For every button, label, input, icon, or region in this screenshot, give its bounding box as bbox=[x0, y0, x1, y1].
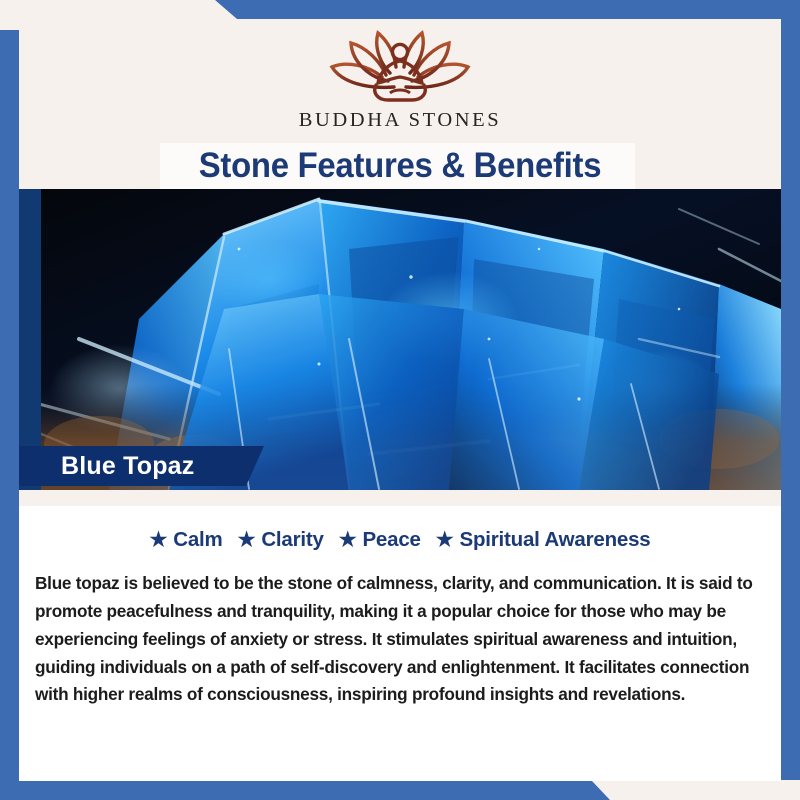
crystal-illustration bbox=[19, 189, 781, 490]
star-icon: ★ bbox=[436, 530, 454, 550]
feature-item-peace: ★ Peace bbox=[339, 528, 421, 552]
stone-name-label: Blue Topaz bbox=[61, 452, 194, 481]
feature-label: Peace bbox=[362, 528, 420, 552]
stone-description: Blue topaz is believed to be the stone o… bbox=[35, 570, 765, 709]
feature-keyword-list: ★ Calm ★ Clarity ★ Peace ★ Spiritual Awa… bbox=[19, 528, 781, 552]
star-icon: ★ bbox=[339, 530, 357, 550]
lotus-meditation-figure-icon bbox=[310, 27, 490, 105]
feature-item-calm: ★ Calm bbox=[150, 528, 223, 552]
star-icon: ★ bbox=[150, 530, 168, 550]
frame-left-bar bbox=[0, 30, 19, 800]
stone-name-banner: Blue Topaz bbox=[19, 446, 264, 486]
page-title: Stone Features & Benefits bbox=[60, 142, 741, 190]
feature-item-spiritual-awareness: ★ Spiritual Awareness bbox=[436, 528, 651, 552]
feature-label: Calm bbox=[173, 528, 222, 552]
photo-card-gap bbox=[19, 490, 781, 506]
photo-left-edge-strip bbox=[19, 189, 41, 490]
content-card: ★ Calm ★ Clarity ★ Peace ★ Spiritual Awa… bbox=[19, 506, 781, 781]
frame-top-bar bbox=[0, 0, 800, 19]
header-section: BUDDHA STONES Stone Features & Benefits bbox=[19, 19, 781, 189]
feature-label: Spiritual Awareness bbox=[459, 528, 650, 552]
infographic-card: BUDDHA STONES Stone Features & Benefits bbox=[0, 0, 800, 800]
brand-name: BUDDHA STONES bbox=[299, 109, 502, 132]
star-icon: ★ bbox=[238, 530, 256, 550]
frame-right-bar bbox=[781, 0, 800, 780]
feature-label: Clarity bbox=[261, 528, 323, 552]
blue-topaz-crystal-photo bbox=[19, 189, 781, 490]
frame-bottom-bar bbox=[0, 781, 800, 800]
feature-item-clarity: ★ Clarity bbox=[238, 528, 324, 552]
brand-logo: BUDDHA STONES bbox=[19, 27, 781, 132]
